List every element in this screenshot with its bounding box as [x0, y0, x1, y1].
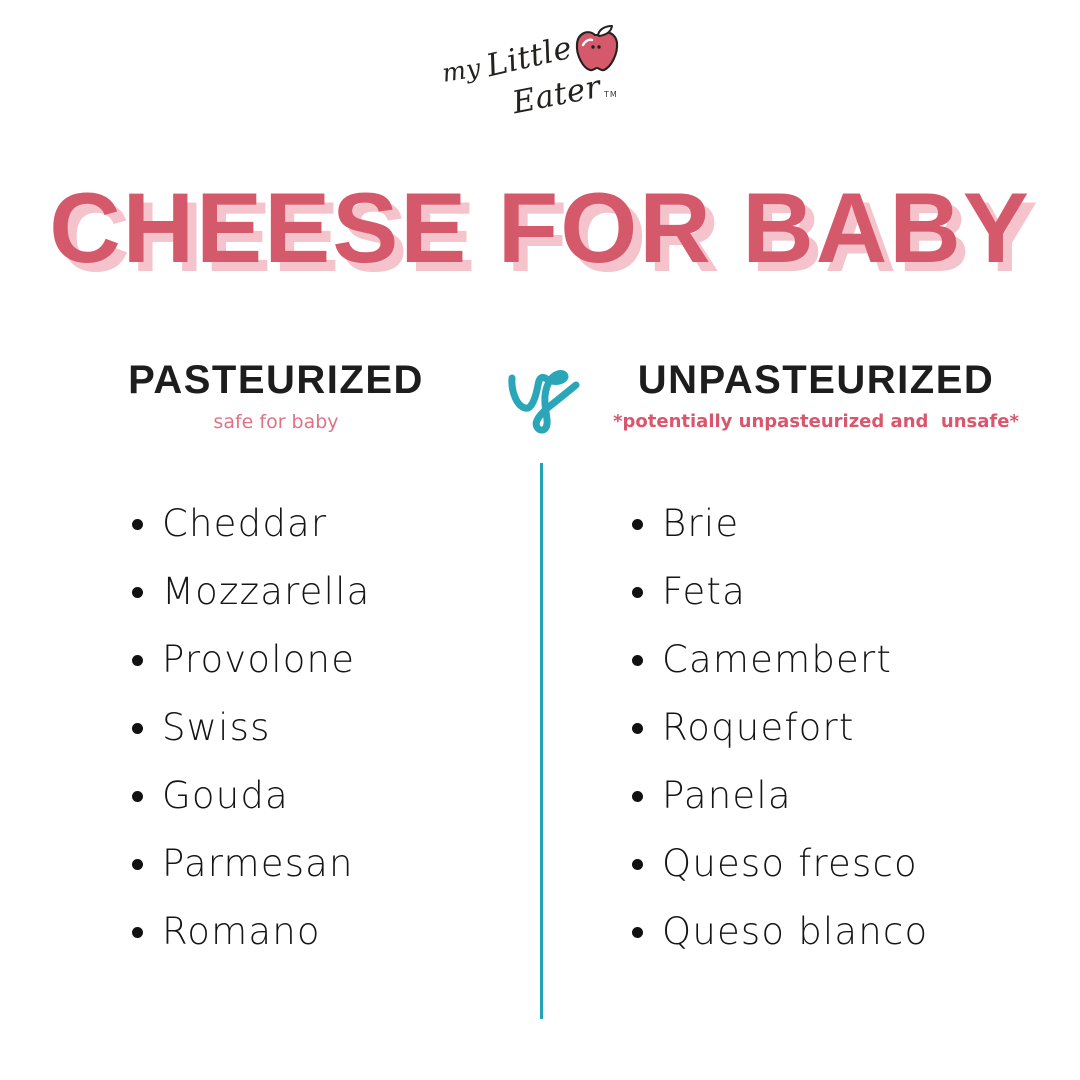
column-unpasteurized: UNPASTEURIZED *potentially unpasteurized… [576, 358, 1056, 966]
bullet-icon [132, 587, 143, 598]
list-item: Queso fresco [576, 830, 1056, 898]
bullet-icon [132, 519, 143, 530]
list-item-label: Panela [662, 774, 792, 817]
list-item-label: Queso blanco [662, 910, 928, 953]
list-item: Swiss [36, 694, 516, 762]
list-item-label: Roquefort [662, 706, 855, 749]
unpasteurized-cheese-list: Brie Feta Camembert Roquefort Panela Que… [576, 490, 1056, 966]
bullet-icon [132, 655, 143, 666]
bullet-icon [132, 791, 143, 802]
list-item: Mozzarella [36, 558, 516, 626]
list-item: Gouda [36, 762, 516, 830]
column-heading-unpasteurized: UNPASTEURIZED [576, 358, 1056, 402]
column-subtitle-pasteurized: safe for baby [36, 410, 516, 434]
list-item: Feta [576, 558, 1056, 626]
vs-script-mark [498, 352, 590, 436]
apple-icon [568, 24, 624, 76]
list-item: Camembert [576, 626, 1056, 694]
list-item: Panela [576, 762, 1056, 830]
list-item-label: Provolone [162, 638, 355, 681]
list-item: Queso blanco [576, 898, 1056, 966]
list-item-label: Feta [662, 570, 746, 613]
brand-logo: my Little Eater TM [0, 22, 1080, 132]
bullet-icon [632, 587, 643, 598]
list-item: Roquefort [576, 694, 1056, 762]
column-heading-pasteurized: PASTEURIZED [36, 358, 516, 402]
page-title: CHEESE FOR BABY [0, 178, 1080, 278]
list-item: Cheddar [36, 490, 516, 558]
bullet-icon [132, 723, 143, 734]
bullet-icon [132, 859, 143, 870]
brand-logo-inner: my Little Eater TM [440, 22, 640, 122]
vertical-divider [540, 463, 543, 1019]
list-item: Romano [36, 898, 516, 966]
list-item-label: Brie [662, 502, 739, 545]
column-pasteurized: PASTEURIZED safe for baby Cheddar Mozzar… [36, 358, 516, 966]
pasteurized-cheese-list: Cheddar Mozzarella Provolone Swiss Gouda… [36, 490, 516, 966]
bullet-icon [632, 927, 643, 938]
list-item: Brie [576, 490, 1056, 558]
list-item: Provolone [36, 626, 516, 694]
list-item-label: Swiss [162, 706, 271, 749]
list-item-label: Camembert [662, 638, 892, 681]
list-item-label: Cheddar [162, 502, 327, 545]
list-item-label: Parmesan [162, 842, 354, 885]
bullet-icon [632, 859, 643, 870]
bullet-icon [632, 723, 643, 734]
list-item-label: Gouda [162, 774, 289, 817]
bullet-icon [632, 519, 643, 530]
logo-word-my: my [440, 53, 483, 88]
column-subtitle-unpasteurized: *potentially unpasteurized and unsafe* [576, 410, 1056, 434]
bullet-icon [132, 927, 143, 938]
trademark-symbol: TM [604, 90, 618, 99]
list-item: Parmesan [36, 830, 516, 898]
list-item-label: Mozzarella [162, 570, 370, 613]
list-item-label: Queso fresco [662, 842, 918, 885]
list-item-label: Romano [162, 910, 321, 953]
bullet-icon [632, 791, 643, 802]
bullet-icon [632, 655, 643, 666]
